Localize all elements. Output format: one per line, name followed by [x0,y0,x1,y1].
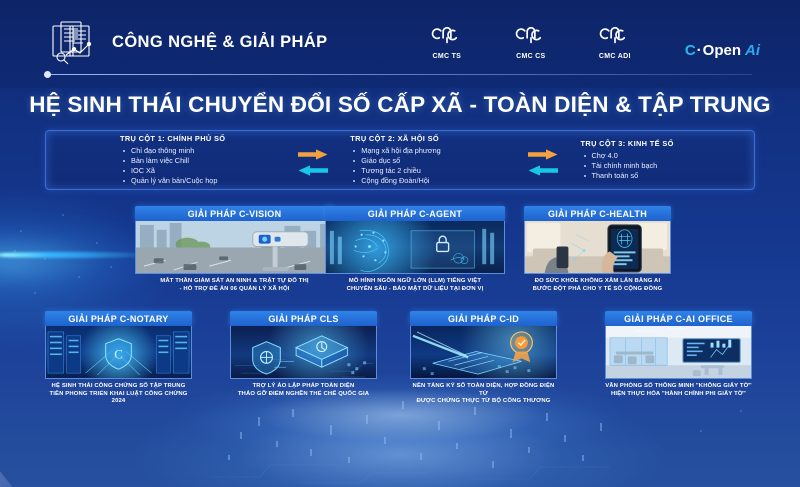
pillar-item: Tài chính minh bạch [581,161,755,171]
card-title: GIẢI PHÁP C-AGENT [325,206,505,221]
logo-cmc-ts: CMC TS [419,25,475,60]
pillar-item: Thanh toán số [581,171,755,181]
documents-chart-icon [48,19,98,65]
logo-caption: CMC TS [432,53,461,60]
card-caption-line-2: - HỖ TRỢ ĐỀ ÁN 06 QUẢN LÝ XÃ HỘI [135,286,334,294]
card-illustration-smart-office-meeting-room [605,326,752,379]
openai-dot: · [697,43,702,58]
solution-card-c-health[interactable]: GIẢI PHÁP C-HEALTH [524,206,671,293]
openai-open-word: Open [703,43,741,58]
pillar-item: Bàn làm việc Chill [120,156,294,166]
logo-c-open-ai: C · Open Ai [685,43,760,58]
page-header: CÔNG NGHỆ & GIẢI PHÁP CMC TS [0,0,800,88]
header-divider-dot [44,71,51,78]
pillar-title: TRỤ CỘT 3: KINH TẾ SỐ [581,139,755,148]
card-title: GIẢI PHÁP C-ID [410,311,557,326]
cmc-logo-mark [514,25,548,51]
bottom-left-ribbon [0,433,56,487]
card-title: GIẢI PHÁP C-HEALTH [524,206,671,221]
pillar-item: Chợ 4.0 [581,151,755,161]
page-title: HỆ SINH THÁI CHUYỂN ĐỔI SỐ CẤP XÃ - TOÀN… [0,92,800,118]
card-caption: MÔ HÌNH NGÔN NGỮ LỚN (LLM) TIẾNG VIỆT CH… [325,278,505,293]
header-divider [48,74,752,75]
openai-ai-word: Ai [745,43,760,58]
pillar-item-list: Chỉ đạo thông minh Bàn làm việc Chill IO… [120,146,294,187]
card-caption: HỆ SINH THÁI CÔNG CHỨNG SỐ TẬP TRUNG TIÊ… [45,383,192,406]
card-caption: MẮT THẦN GIÁM SÁT AN NINH & TRẬT TỰ ĐÔ T… [135,278,334,293]
pillar-item: Quản lý văn bản/Cuộc họp [120,176,294,186]
pillar-column-2: TRỤ CỘT 2: XÃ HỘI SỐ Mạng xã hội địa phư… [338,134,524,187]
pillar-title: TRỤ CỘT 1: CHÍNH PHỦ SỐ [120,134,294,143]
card-caption-line-2: CHUYÊN SÂU - BẢO MẬT DỮ LIỆU TẠI ĐƠN VỊ [325,286,505,294]
card-caption-line-2: TIÊN PHONG TRIỂN KHAI LUẬT CÔNG CHỨNG 20… [45,391,192,406]
pillars-panel: TRỤ CỘT 1: CHÍNH PHỦ SỐ Chỉ đạo thông mi… [45,130,755,190]
pillar-item: Cộng đồng Đoàn/Hội [350,176,524,186]
pillar-column-3: TRỤ CỘT 3: KINH TẾ SỐ Chợ 4.0 Tài chính … [569,139,755,182]
card-caption-line-1: VĂN PHÒNG SỐ THÔNG MINH "KHÔNG GIẤY TỜ" [605,383,752,391]
solution-card-c-vision[interactable]: GIẢI PHÁP C-VISION [135,206,334,293]
card-title: GIẢI PHÁP C-AI OFFICE [605,311,752,326]
pillar-item-list: Mạng xã hội địa phương Giáo dục số Tương… [350,146,524,187]
logo-caption: CMC CS [516,53,545,60]
logo-caption: CMC ADI [599,53,631,60]
card-caption: ĐO SỨC KHỎE KHÔNG XÂM LẤN BẰNG AI BƯỚC Đ… [524,278,671,293]
card-caption-line-2: THÁO GỠ ĐIỂM NGHẼN THỂ CHẾ QUỐC GIA [230,391,377,399]
arrow-right-icon [298,147,328,158]
card-illustration-ai-face-network [325,221,505,274]
arrow-left-icon [528,163,558,174]
card-illustration-city-traffic-camera [135,221,334,274]
card-caption: TRỢ LÝ ẢO LẬP PHÁP TOÀN DIỆN THÁO GỠ ĐIỂ… [230,383,377,398]
card-title: GIẢI PHÁP C-NOTARY [45,311,192,326]
pillar-column-1: TRỤ CỘT 1: CHÍNH PHỦ SỐ Chỉ đạo thông mi… [108,134,294,187]
cmc-logo-mark [598,25,632,51]
logo-cmc-cs: CMC CS [503,25,559,60]
pillar-item-list: Chợ 4.0 Tài chính minh bạch Thanh toán s… [581,151,755,182]
card-caption-line-2: BƯỚC ĐỘT PHÁ CHO Y TẾ SỐ CỘNG ĐỒNG [524,286,671,294]
card-illustration-data-center-shield: C [45,326,192,379]
card-caption-line-1: TRỢ LÝ ẢO LẬP PHÁP TOÀN DIỆN [230,383,377,391]
solution-card-c-notary[interactable]: GIẢI PHÁP C-NOTARY [45,311,192,406]
solution-card-c-ai-office[interactable]: GIẢI PHÁP C-AI OFFICE [605,311,752,398]
card-caption: VĂN PHÒNG SỐ THÔNG MINH "KHÔNG GIẤY TỜ" … [605,383,752,398]
solution-card-c-id[interactable]: GIẢI PHÁP C-ID [410,311,557,406]
brand-title: CÔNG NGHỆ & GIẢI PHÁP [112,33,328,52]
card-title: GIẢI PHÁP CLS [230,311,377,326]
openai-c-letter: C [685,43,696,58]
cmc-logo-mark [430,25,464,51]
svg-text:C: C [114,347,123,361]
card-caption-line-1: MẮT THẦN GIÁM SÁT AN NINH & TRẬT TỰ ĐÔ T… [135,278,334,286]
logo-cmc-adi: CMC ADI [587,25,643,60]
card-illustration-digital-signature-certificate [410,326,557,379]
card-caption: NỀN TẢNG KÝ SỐ TOÀN DIỆN, HỢP ĐỒNG ĐIỆN … [410,383,557,406]
arrow-group-2 [524,147,563,174]
card-caption-line-2: HIỆN THỰC HÓA "HÀNH CHÍNH PHI GIẤY TỜ" [605,391,752,399]
pillar-item: Tương tác 2 chiều [350,166,524,176]
pillar-title: TRỤ CỘT 2: XÃ HỘI SỐ [350,134,524,143]
arrow-left-icon [298,163,328,174]
arrow-right-icon [528,147,558,158]
pillar-item: IOC Xã [120,166,294,176]
arrow-group-1 [294,147,333,174]
card-illustration-shield-book-chip [230,326,377,379]
pillar-item: Giáo dục số [350,156,524,166]
card-title: GIẢI PHÁP C-VISION [135,206,334,221]
partner-logos: CMC TS CMC CS [419,25,760,60]
card-caption-line-1: MÔ HÌNH NGÔN NGỮ LỚN (LLM) TIẾNG VIỆT [325,278,505,286]
card-illustration-smartphone-face-scan [524,221,671,274]
card-caption-line-2: ĐƯỢC CHỨNG THỰC TỪ BỘ CÔNG THƯƠNG [410,398,557,406]
solution-card-c-agent[interactable]: GIẢI PHÁP C-AGENT [325,206,505,293]
card-caption-line-1: NỀN TẢNG KÝ SỐ TOÀN DIỆN, HỢP ĐỒNG ĐIỆN … [410,383,557,398]
pillar-item: Chỉ đạo thông minh [120,146,294,156]
card-caption-line-1: ĐO SỨC KHỎE KHÔNG XÂM LẤN BẰNG AI [524,278,671,286]
card-caption-line-1: HỆ SINH THÁI CÔNG CHỨNG SỐ TẬP TRUNG [45,383,192,391]
solution-card-cls[interactable]: GIẢI PHÁP CLS [230,311,377,398]
pillar-item: Mạng xã hội địa phương [350,146,524,156]
